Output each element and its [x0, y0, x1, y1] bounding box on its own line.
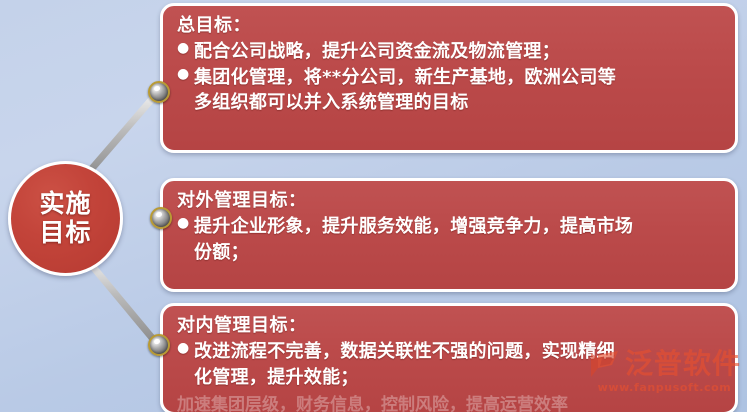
clipped-next-line: 加速集团层级，财务信息，控制风险，提高运营效率 — [177, 390, 697, 412]
list-item: 配合公司战略，提升公司资金流及物流管理； — [177, 39, 723, 65]
panel-overall-goal-title: 总目标： — [177, 13, 723, 39]
hub-label-line-1: 实施 — [39, 190, 91, 219]
implementation-goal-hub[interactable]: 实施 目标 — [8, 161, 123, 276]
panel-external-management-goal-title: 对外管理目标： — [177, 188, 723, 214]
knob-overall-goal[interactable] — [148, 81, 170, 103]
hub-label-line-2: 目标 — [39, 219, 91, 248]
knob-internal-goal[interactable] — [148, 334, 170, 356]
list-item: 集团化管理，将**分公司，新生产基地，欧洲公司等 — [177, 65, 723, 91]
list-item-continuation: 多组织都可以并入系统管理的目标 — [177, 90, 723, 116]
panel-external-management-goal-list: 提升企业形象，提升服务效能，增强竞争力，提高市场 份额； — [177, 214, 723, 265]
connector-hub-to-overall — [82, 92, 158, 180]
diagram-canvas: 实施 目标 总目标： 配合公司战略，提升公司资金流及物流管理； 集团化管理，将*… — [0, 0, 747, 412]
panel-external-management-goal[interactable]: 对外管理目标： 提升企业形象，提升服务效能，增强竞争力，提高市场 份额； — [160, 178, 738, 292]
panel-overall-goal[interactable]: 总目标： 配合公司战略，提升公司资金流及物流管理； 集团化管理，将**分公司，新… — [160, 3, 738, 153]
knob-external-goal[interactable] — [150, 207, 172, 229]
panel-internal-management-goal-title: 对内管理目标： — [177, 313, 723, 339]
panel-internal-management-goal-list: 改进流程不完善，数据关联性不强的问题，实现精细 化管理，提升效能； — [177, 339, 723, 390]
list-item-continuation: 份额； — [177, 240, 723, 266]
panel-internal-management-goal[interactable]: 对内管理目标： 改进流程不完善，数据关联性不强的问题，实现精细 化管理，提升效能… — [160, 303, 738, 412]
connector-hub-to-internal — [84, 256, 158, 345]
list-item: 改进流程不完善，数据关联性不强的问题，实现精细 — [177, 339, 723, 365]
panel-overall-goal-list: 配合公司战略，提升公司资金流及物流管理； 集团化管理，将**分公司，新生产基地，… — [177, 39, 723, 116]
list-item-continuation: 化管理，提升效能； — [177, 365, 723, 391]
list-item: 提升企业形象，提升服务效能，增强竞争力，提高市场 — [177, 214, 723, 240]
